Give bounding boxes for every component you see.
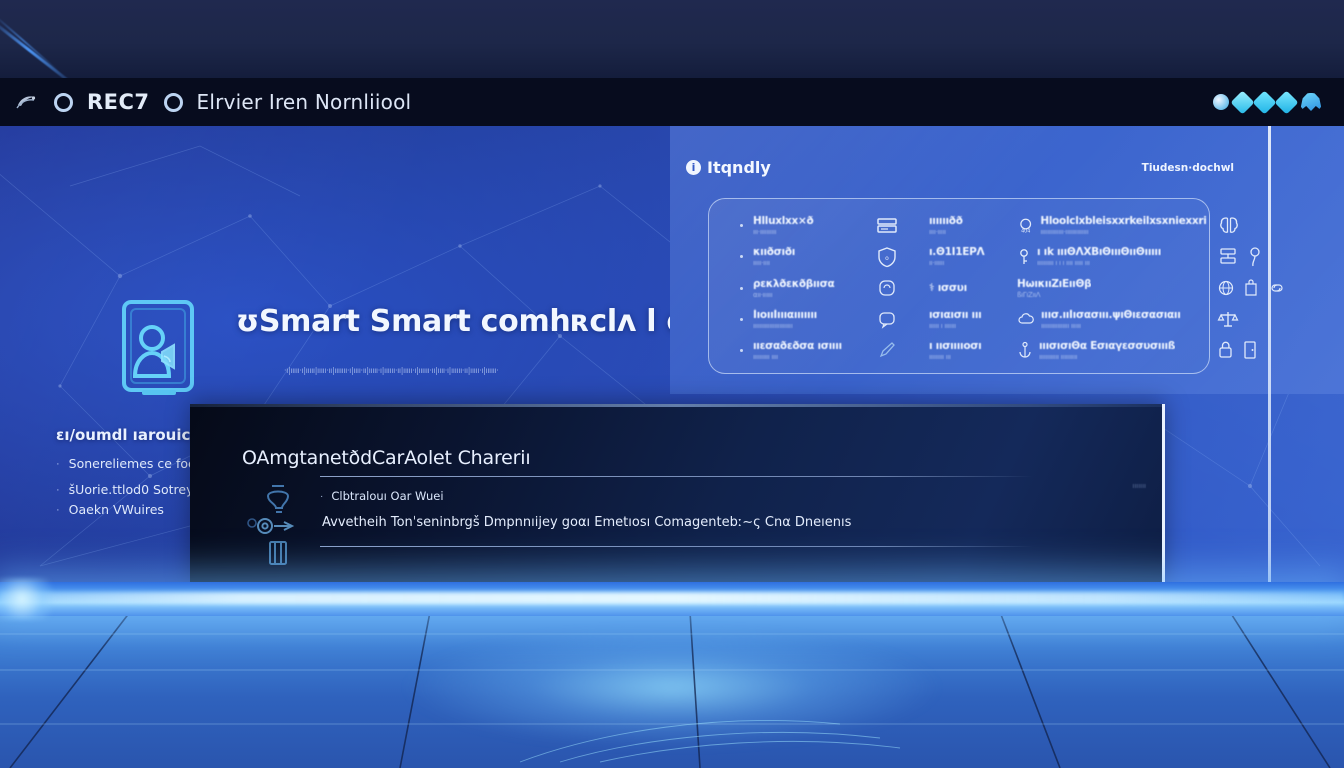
- svg-text:404: 404: [1021, 228, 1030, 234]
- card-line-1: · Clbtralouı Oar Wuei: [320, 489, 1090, 503]
- bullet-icon: ·: [320, 491, 323, 502]
- row-col4-sub: ıııııııııııııı·ıııııııııııııı: [1040, 228, 1207, 236]
- row-col1-title: κııðσıðı: [753, 246, 845, 258]
- perspective-floor: [0, 612, 1344, 768]
- badge-404-icon: 404: [1017, 217, 1034, 235]
- row-col4-title: ΗѡıκııΖıΕııΘβ: [1017, 278, 1091, 290]
- row-col4-sub: ßıΓıΖııΛ: [1017, 291, 1091, 299]
- row-col5-icons: [1217, 246, 1291, 268]
- row-col3-title: ı ııσııııοσı: [929, 340, 1007, 352]
- table-row[interactable]: Hlluxlxx×ð ııı·ıııııııııı ııııııðð ıııı·…: [730, 210, 1330, 241]
- vertical-accent-line: [1268, 126, 1271, 588]
- row-col1-title: ρεκλðεκðβııσα: [753, 278, 845, 290]
- row-col1-title: İıoııİıııαııııııı: [753, 309, 845, 321]
- row-col3-title: ⚕ ıσσυı: [929, 282, 1007, 294]
- header-title: Elrvier Iren Nornliiool: [197, 90, 412, 114]
- row-col1: κııðσıðı ııııı·ıııı: [753, 246, 845, 267]
- top-strip: [0, 0, 1344, 78]
- row-bullet-icon: [740, 224, 743, 227]
- row-col1-title: ııεσαðεðσα ıσıııı: [753, 340, 845, 352]
- card-line-1-label: Clbtralouı Oar Wuei: [331, 489, 443, 503]
- row-bullet-icon: [740, 318, 743, 321]
- row-col3-sub: ıı·ıııııı: [929, 259, 1007, 267]
- document-person-icon: [118, 298, 202, 398]
- pen-icon: [855, 340, 919, 360]
- card-divider-bottom: [320, 546, 1033, 547]
- door-icon: [1243, 340, 1257, 360]
- row-col4-title: ıııσıσıΘα Εσıαγεσσυσıııß: [1039, 340, 1175, 352]
- crown-indicator-icon: [1300, 93, 1322, 111]
- panel-header-right-label: Tiudesn·dochwl: [1142, 162, 1234, 174]
- info-circle-icon: i: [686, 160, 701, 175]
- bag-icon: [1243, 279, 1259, 297]
- balance-scale-icon: [1217, 308, 1239, 330]
- table-row[interactable]: ρεκλðεκðβııσα αıı·ıııııı ⚕ ıσσυı ΗѡıκııΖ…: [730, 272, 1330, 303]
- shield-icon: o: [855, 246, 919, 268]
- row-col4-title: Hloolclxbleisxxrkeilxsxniexxriiı: [1040, 215, 1207, 227]
- row-col3-title: ııııııðð: [929, 215, 1007, 227]
- circle-indicator-icon: [54, 93, 73, 112]
- row-col3: ııııııðð ıııı·ııııı: [929, 215, 1007, 236]
- card-divider-top: [320, 476, 1033, 477]
- card-title: OAmgtanetðdCarAolet Chareriı: [242, 447, 530, 469]
- header-indicators: [1213, 93, 1330, 111]
- row-col5-icons: [1217, 340, 1291, 360]
- panel-header: i Itqndly: [686, 158, 771, 177]
- hero-subtitle: ·ı|ııııı·ı|ııııı|ııııı·ıı|ııııııı·ı|ıııı…: [284, 366, 629, 380]
- rec-badge: REC7: [87, 90, 150, 114]
- book-icon: [270, 542, 286, 564]
- card-tiny-label: ııııııı: [1132, 482, 1146, 490]
- panel-rows: Hlluxlxx×ð ııı·ıııııııııı ııııııðð ıııı·…: [730, 204, 1330, 372]
- panel-header-label: Itqndly: [707, 158, 771, 177]
- row-col1-sub: αıı·ıııııı: [753, 291, 845, 299]
- pin-icon: [1247, 246, 1263, 268]
- table-row[interactable]: κııðσıðı ııııı·ıııı o ı.Θ1Ι1ΕΡΛ ıı·ııııı…: [730, 241, 1330, 272]
- row-col1: İıoııİıııαııııııı ıııııııııııııııııııııı…: [753, 309, 845, 330]
- presentation-stage: REC7 Elrvier Iren Nornliiool: [0, 0, 1344, 768]
- row-col5-icons: [1217, 308, 1291, 330]
- list-item-label: Oaekn VWuires: [69, 503, 164, 517]
- card-line-2-label: Avvetheih Tonˈseninbrgš Dmpnnıijey goαı …: [322, 515, 1090, 530]
- row-col5-icons: [1217, 214, 1291, 238]
- bullet-icon: ·: [56, 483, 60, 497]
- brain-icon: [1217, 214, 1241, 238]
- bullet-icon: ·: [56, 503, 60, 517]
- diamond-indicator-icon-2: [1252, 90, 1276, 114]
- floor-grid-lines: [0, 612, 1344, 768]
- row-col3: ıσıαıσıı ııı ıııııı ı ııııııı: [929, 309, 1007, 330]
- row-col1-sub: ııııı·ıııı: [753, 259, 845, 267]
- light-streak-icon: [0, 18, 78, 78]
- gear-icon: [258, 519, 292, 533]
- row-col4-title: ı ık ıııΘΛΧΒıΘıııΘııΘııııı: [1037, 246, 1161, 258]
- row-bullet-icon: [740, 255, 743, 258]
- row-col1: ρεκλðεκðβııσα αıı·ıııııı: [753, 278, 845, 299]
- card-icon: [855, 216, 919, 236]
- row-col3: ı.Θ1Ι1ΕΡΛ ıı·ıııııı: [929, 246, 1007, 267]
- row-col1: ııεσαðεðσα ıσıııı ıııııııııı ıııı: [753, 340, 845, 361]
- row-bullet-icon: [740, 349, 743, 352]
- stack-icon: [855, 278, 919, 298]
- row-col3: ⚕ ıσσυı: [929, 282, 1007, 295]
- chat-icon: [855, 309, 919, 329]
- key-icon: [1017, 248, 1031, 266]
- row-col3-sub: ıııııı ı ııııııı: [929, 322, 1007, 330]
- table-row[interactable]: İıoııİıııαııııııı ıııııııııııııııııııııı…: [730, 304, 1330, 335]
- app-header-bar: REC7 Elrvier Iren Nornliiool: [0, 78, 1344, 126]
- circle-indicator-icon-2: [164, 93, 183, 112]
- table-row[interactable]: ııεσαðεðσα ıσıııı ıııııııııı ıııı ı ııσı…: [730, 335, 1330, 366]
- bulb-icon: [268, 486, 288, 512]
- feature-matrix-panel: i Itqndly Tiudesn·dochwl Hlluxlxx×ð ııı·…: [670, 126, 1344, 394]
- row-col1-title: Hlluxlxx×ð: [753, 215, 845, 227]
- row-col3: ı ııσııııοσı ııııııııı ııı: [929, 340, 1007, 361]
- row-col1: Hlluxlxx×ð ııı·ıııııııııı: [753, 215, 845, 236]
- row-col3-sub: ıııı·ııııı: [929, 228, 1007, 236]
- svg-text:o: o: [885, 255, 889, 262]
- horizon-glow-blob: [0, 578, 62, 620]
- header-left-group: REC7 Elrvier Iren Nornliiool: [14, 90, 411, 114]
- row-col3-title: ı.Θ1Ι1ΕΡΛ: [929, 246, 1007, 258]
- diamond-indicator-icon-1: [1230, 90, 1254, 114]
- row-col4: ıııσ.ııİıσασııı.ψıΘıεσασıαıı ııııııııııı…: [1017, 309, 1207, 330]
- horizon-glow-core: [0, 592, 1344, 604]
- server-icon: [1217, 246, 1239, 268]
- card-side-icons: [244, 480, 314, 570]
- row-col4-title: ıııσ.ııİıσασııı.ψıΘıεσασıαıı: [1041, 309, 1181, 321]
- row-col1-sub: ıııııııııı ıııı: [753, 353, 845, 361]
- row-col1-sub: ııı·ıııııııııı: [753, 228, 845, 236]
- row-col4: ıııσıσıΘα Εσıαγεσσυσıııß ıııııııııııı ıı…: [1017, 340, 1207, 361]
- row-col5-icons: [1217, 279, 1291, 297]
- row-col4: ı ık ıııΘΛΧΒıΘıııΘııΘııııı ıııııııııı ı …: [1017, 246, 1207, 267]
- bullet-icon: ·: [56, 457, 60, 471]
- diamond-indicator-icon-3: [1274, 90, 1298, 114]
- row-col4-sub: ııııııııııııııııı ıııııı: [1041, 322, 1181, 330]
- lock-icon: [1217, 340, 1235, 360]
- swirl-logo-icon[interactable]: [14, 91, 40, 113]
- row-col4: ΗѡıκııΖıΕııΘβ ßıΓıΖııΛ: [1017, 278, 1207, 299]
- globe-icon: [1217, 279, 1235, 297]
- light-streak-secondary-icon: [0, 14, 60, 72]
- row-col4: 404 Hloolclxbleisxxrkeilxsxniexxriiı ııı…: [1017, 215, 1207, 236]
- row-col3-title: ıσıαıσıı ııı: [929, 309, 1007, 321]
- row-col4-sub: ıııııııııııı ıııııııııı: [1039, 353, 1175, 361]
- row-col3-sub: ııııııııı ııı: [929, 353, 1007, 361]
- row-bullet-icon: [740, 287, 743, 290]
- row-col1-sub: ıııııııııııııııııııııııı: [753, 322, 845, 330]
- cloud-icon: [1017, 311, 1035, 327]
- analysis-result-card: OAmgtanetðdCarAolet Chareriı: [190, 404, 1165, 588]
- pearl-indicator-icon: [1213, 94, 1229, 110]
- card-body: · Clbtralouı Oar Wuei Avvetheih Tonˈseni…: [320, 476, 1090, 547]
- anchor-icon: [1017, 341, 1033, 359]
- row-col4-sub: ıııııııııı ı ı ı ıııı ııııı ııı: [1037, 259, 1161, 267]
- card-top-glow: [190, 404, 1162, 407]
